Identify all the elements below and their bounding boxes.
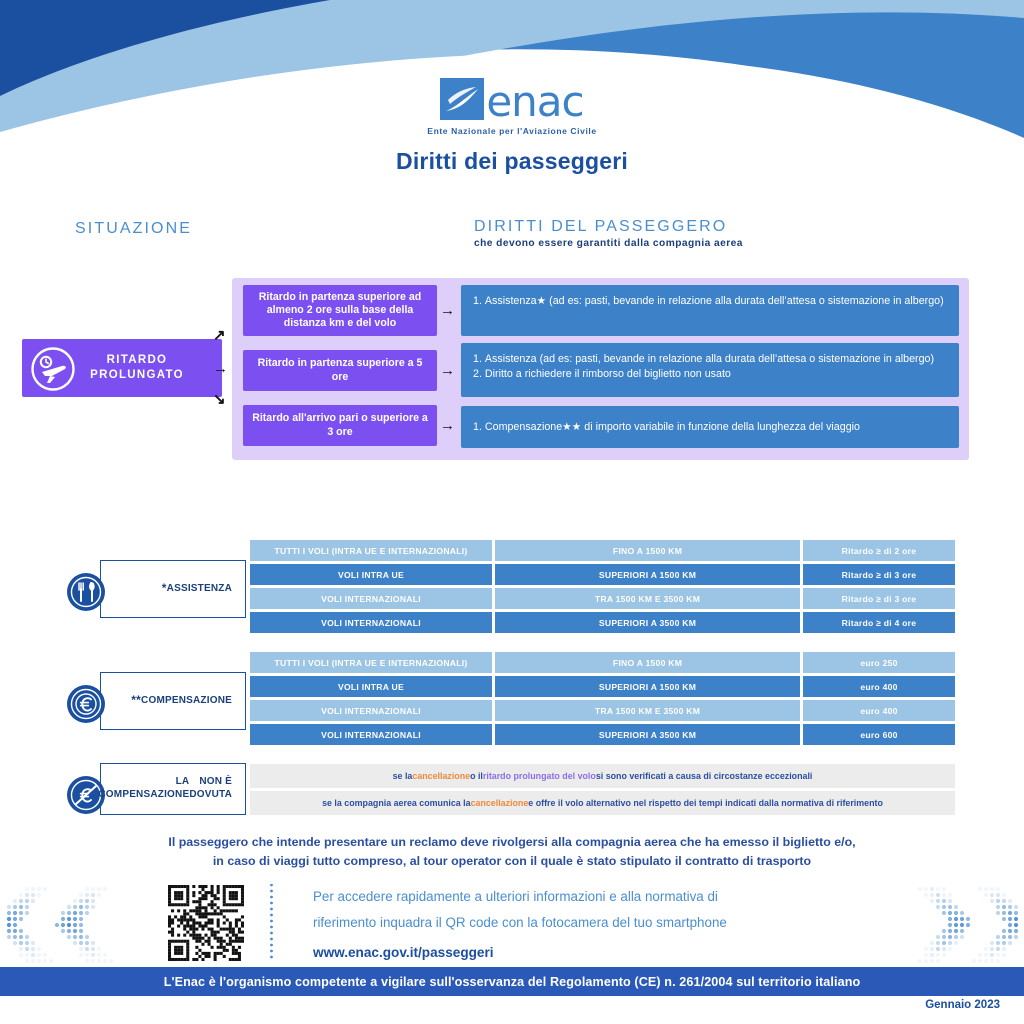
claim-line-1: Il passeggero che intende presentare un … — [0, 833, 1024, 852]
rights-item: 2. Diritto a richiedere il rimborso del … — [473, 367, 947, 381]
note-fragment: e offre il volo alternativo nel rispetto… — [528, 798, 883, 808]
note-fragment: ritardo prolungato del volo — [483, 771, 596, 781]
table-row: VOLI INTRA UE SUPERIORI A 1500 KM euro 4… — [250, 676, 955, 697]
badge-compensazione-non-dovuta: LA COMPENSAZIONE NON È DOVUTA — [66, 763, 256, 815]
rights-box: 1. Assistenza (ad es: pasti, bevande in … — [461, 343, 959, 397]
rights-item-number: 1. — [473, 420, 482, 434]
flow-arrow-down-icon: ↘ — [213, 392, 226, 407]
not-due-note: se la compagnia aerea comunica la cancel… — [250, 791, 955, 815]
table-row: VOLI INTRA UE SUPERIORI A 1500 KM Ritard… — [250, 564, 955, 585]
badge-non-dovuta-line2: NON È DOVUTA — [189, 775, 232, 801]
footer-bar: L'Enac è l'organismo competente a vigila… — [0, 967, 1024, 996]
flow-arrow-up-icon: ↗ — [213, 328, 226, 343]
note-fragment: se la — [393, 771, 413, 781]
cell-flights: VOLI INTERNAZIONALI — [250, 588, 492, 609]
qr-code-icon — [168, 885, 244, 961]
cell-value: Ritardo ≥ di 2 ore — [803, 540, 955, 561]
enac-logo-subtitle: Ente Nazionale per l'Aviazione Civile — [0, 126, 1024, 136]
qr-instructions: Per accedere rapidamente a ulteriori inf… — [313, 884, 913, 966]
row-arrow-icon: → — [440, 303, 455, 318]
cell-flights: TUTTI I VOLI (INTRA UE E INTERNAZIONALI) — [250, 540, 492, 561]
claim-line-2: in caso di viaggi tutto compreso, al tou… — [0, 852, 1024, 871]
table-row: VOLI INTERNAZIONALI SUPERIORI A 3500 KM … — [250, 724, 955, 745]
cell-distance: SUPERIORI A 3500 KM — [495, 612, 800, 633]
rights-item-text: Assistenza★ (ad es: pasti, bevande in re… — [485, 294, 944, 308]
cell-value: euro 250 — [803, 652, 955, 673]
cell-flights: VOLI INTRA UE — [250, 676, 492, 697]
badge-compensazione-text: COMPENSAZIONE — [141, 694, 232, 707]
dotted-separator — [270, 884, 273, 962]
euro-coin-icon — [66, 684, 106, 724]
situation-box: Ritardo in partenza superiore a 5 ore — [243, 350, 437, 391]
cell-distance: TRA 1500 KM E 3500 KM — [495, 588, 800, 609]
cell-distance: SUPERIORI A 3500 KM — [495, 724, 800, 745]
rights-item: 1. Compensazione★★ di importo variabile … — [473, 420, 860, 434]
cell-distance: FINO A 1500 KM — [495, 540, 800, 561]
rights-box: 1. Assistenza★ (ad es: pasti, bevande in… — [461, 285, 959, 336]
badge-non-dovuta-label: LA COMPENSAZIONE NON È DOVUTA — [110, 763, 240, 813]
cell-value: Ritardo ≥ di 3 ore — [803, 588, 955, 609]
rights-item: 1. Assistenza (ad es: pasti, bevande in … — [473, 352, 947, 366]
column-header-diritti: DIRITTI DEL PASSEGGERO che devono essere… — [457, 218, 743, 250]
note-fragment: o il — [470, 771, 483, 781]
delayed-plane-icon — [30, 346, 76, 392]
table-assistenza: TUTTI I VOLI (INTRA UE E INTERNAZIONALI)… — [250, 540, 955, 633]
flow-category-label: RITARDO PROLUNGATO — [62, 353, 222, 383]
qr-instructions-line2: riferimento inquadra il QR code con la f… — [313, 910, 913, 936]
badge-assistenza-label: *ASSISTENZA — [110, 560, 240, 616]
enac-wordmark: enac — [486, 84, 583, 120]
enac-logo-mark — [440, 78, 484, 120]
badge-compensazione-label: **COMPENSAZIONE — [110, 672, 240, 728]
cell-distance: FINO A 1500 KM — [495, 652, 800, 673]
badge-assistenza-text: ASSISTENZA — [167, 582, 232, 595]
cell-value: Ritardo ≥ di 3 ore — [803, 564, 955, 585]
row-arrow-icon: → — [440, 418, 455, 433]
rights-item: 1. Assistenza★ (ad es: pasti, bevande in… — [473, 294, 947, 308]
rights-item-text: Diritto a richiedere il rimborso del big… — [485, 367, 731, 381]
rights-item-number: 1. — [473, 352, 482, 366]
situation-box: Ritardo in partenza superiore ad almeno … — [243, 285, 437, 336]
infographic-page: enac Ente Nazionale per l'Aviazione Civi… — [0, 0, 1024, 1024]
badge-assistenza: *ASSISTENZA — [66, 560, 256, 618]
claim-paragraph: Il passeggero che intende presentare un … — [0, 833, 1024, 871]
situation-box: Ritardo all'arrivo pari o superiore a 3 … — [243, 405, 437, 446]
rights-box: 1. Compensazione★★ di importo variabile … — [461, 406, 959, 448]
table-row: TUTTI I VOLI (INTRA UE E INTERNAZIONALI)… — [250, 652, 955, 673]
table-row: VOLI INTERNAZIONALI SUPERIORI A 3500 KM … — [250, 612, 955, 633]
cell-flights: TUTTI I VOLI (INTRA UE E INTERNAZIONALI) — [250, 652, 492, 673]
rights-item-text: Assistenza (ad es: pasti, bevande in rel… — [485, 352, 934, 366]
cell-distance: TRA 1500 KM E 3500 KM — [495, 700, 800, 721]
rights-item-number: 2. — [473, 367, 482, 381]
column-header-situazione-title: SITUAZIONE — [75, 220, 192, 238]
table-row: TUTTI I VOLI (INTRA UE E INTERNAZIONALI)… — [250, 540, 955, 561]
badge-compensazione: **COMPENSAZIONE — [66, 672, 256, 730]
not-due-note: se la cancellazione o il ritardo prolung… — [250, 764, 955, 788]
cell-distance: SUPERIORI A 1500 KM — [495, 676, 800, 697]
cell-flights: VOLI INTRA UE — [250, 564, 492, 585]
cell-flights: VOLI INTERNAZIONALI — [250, 612, 492, 633]
column-header-diritti-title: DIRITTI DEL PASSEGGERO — [474, 218, 743, 236]
cell-value: euro 400 — [803, 676, 955, 697]
flow-arrow-right-icon: → — [213, 361, 228, 376]
badge-compensazione-prefix: ** — [131, 694, 141, 707]
flow-category-label-line1: RITARDO — [107, 354, 168, 366]
table-row: VOLI INTERNAZIONALI TRA 1500 KM E 3500 K… — [250, 588, 955, 609]
qr-instructions-line1: Per accedere rapidamente a ulteriori inf… — [313, 884, 913, 910]
cutlery-icon — [66, 572, 106, 612]
cell-flights: VOLI INTERNAZIONALI — [250, 724, 492, 745]
cell-value: Ritardo ≥ di 4 ore — [803, 612, 955, 633]
rights-item-number: 1. — [473, 294, 482, 308]
column-header-situazione: SITUAZIONE — [58, 220, 192, 246]
chevron-right-decoration-icon — [6, 880, 138, 966]
rights-item-text: Compensazione★★ di importo variabile in … — [485, 420, 860, 434]
row-arrow-icon: → — [440, 363, 455, 378]
table-row: VOLI INTERNAZIONALI TRA 1500 KM E 3500 K… — [250, 700, 955, 721]
cell-value: euro 400 — [803, 700, 955, 721]
note-fragment: cancellazione — [471, 798, 529, 808]
cell-value: euro 600 — [803, 724, 955, 745]
note-fragment: se la compagnia aerea comunica la — [322, 798, 470, 808]
flow-category-label-line2: PROLUNGATO — [90, 369, 184, 381]
enac-url-link[interactable]: www.enac.gov.it/passeggeri — [313, 940, 913, 966]
not-due-notes: se la cancellazione o il ritardo prolung… — [250, 764, 955, 815]
page-title: Diritti dei passeggeri — [0, 148, 1024, 175]
cell-distance: SUPERIORI A 1500 KM — [495, 564, 800, 585]
note-fragment: si sono verificati a causa di circostanz… — [596, 771, 813, 781]
footer-text: L'Enac è l'organismo competente a vigila… — [164, 975, 861, 989]
enac-logo: enac Ente Nazionale per l'Aviazione Civi… — [0, 78, 1024, 136]
chevron-left-decoration-icon — [893, 880, 1019, 966]
column-header-diritti-subtitle: che devono essere garantiti dalla compag… — [474, 237, 743, 250]
note-fragment: cancellazione — [412, 771, 470, 781]
badge-non-dovuta-line1: LA COMPENSAZIONE — [98, 775, 189, 801]
footer-date: Gennaio 2023 — [925, 999, 1000, 1011]
cell-flights: VOLI INTERNAZIONALI — [250, 700, 492, 721]
table-compensazione: TUTTI I VOLI (INTRA UE E INTERNAZIONALI)… — [250, 652, 955, 745]
